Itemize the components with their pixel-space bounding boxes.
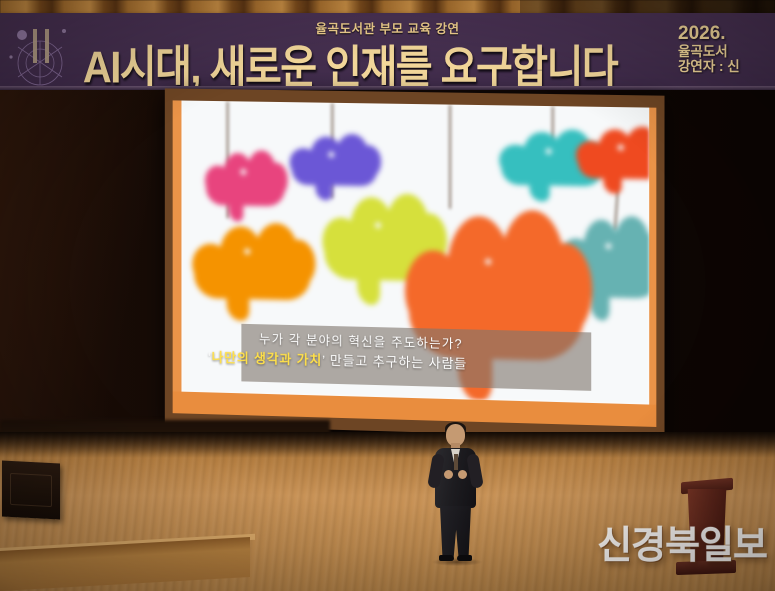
wall-light-sheen <box>0 90 180 440</box>
event-banner: 율곡도서관 부모 교육 강연 AI시대, 새로운 인재를 요구합니다 2026.… <box>0 13 775 91</box>
banner-speaker: 강연자 : 신 <box>678 59 775 74</box>
presenter-right-hand <box>458 470 467 479</box>
purple-bubble <box>288 132 381 195</box>
red-bubble <box>574 125 649 189</box>
banner-date: 2026. <box>678 23 775 44</box>
presenter-left-shoe <box>439 555 454 561</box>
caption-highlight: 나만의 생각과 가치 <box>212 350 322 368</box>
news-watermark: 신경북일보 <box>597 514 767 569</box>
slide-frame-right <box>649 108 656 427</box>
banner-title: AI시대, 새로운 인재를 요구합니다 <box>0 31 700 91</box>
caption-rest: 만들고 추구하는 사람들 <box>326 353 468 372</box>
speech-bubble-group <box>181 101 649 108</box>
stage-floor-shadow <box>0 432 775 458</box>
stage-monitor-box <box>2 460 60 519</box>
presenter-trousers <box>440 506 471 558</box>
banner-info-block: 2026. 율곡도서 강연자 : 신 <box>678 23 775 74</box>
slide-frame-left <box>173 100 182 413</box>
hanging-string <box>449 105 451 209</box>
presenter-right-shoe <box>457 555 472 561</box>
pink-bubble <box>203 148 288 215</box>
presenter-tie <box>454 454 458 470</box>
lecture-photo: 율곡도서관 부모 교육 강연 AI시대, 새로운 인재를 요구합니다 2026.… <box>0 0 775 591</box>
orange-bubble-left <box>189 219 315 313</box>
presenter-left-hand <box>444 470 453 479</box>
presenter-in-dark-suit <box>424 424 486 564</box>
banner-venue: 율곡도서 <box>678 44 775 59</box>
presentation-slide: 누가 각 분야의 혁신을 주도하는가? ‘나만의 생각과 가치’ 만들고 추구하… <box>173 100 657 427</box>
projection-screen: 누가 각 분야의 혁신을 주도하는가? ‘나만의 생각과 가치’ 만들고 추구하… <box>165 88 665 439</box>
